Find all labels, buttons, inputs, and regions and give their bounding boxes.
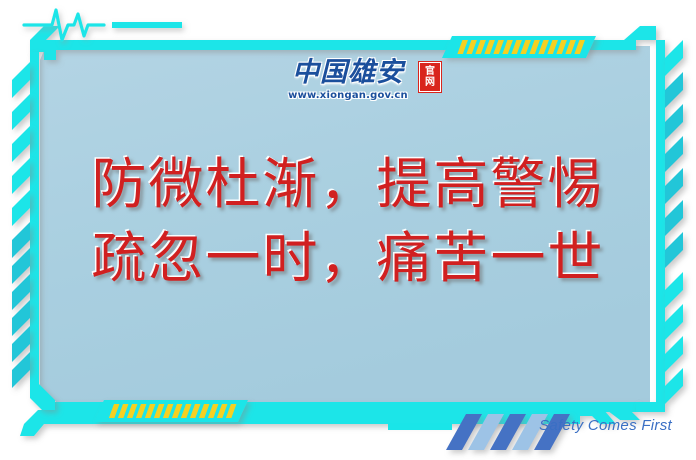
logo-url-text: www.xiongan.gov.cn	[288, 90, 408, 101]
xiongan-logo: 中国雄安 www.xiongan.gov.cn 官 网	[273, 58, 423, 114]
left-diagonal-stripes	[12, 62, 30, 388]
slogan-block: 防微杜渐，提高警惕 疏忽一时，痛苦一世	[91, 154, 604, 288]
safety-poster: 中国雄安 www.xiongan.gov.cn 官 网 防微杜渐，提高警惕 疏忽…	[0, 0, 696, 460]
poster-content: 中国雄安 www.xiongan.gov.cn 官 网 防微杜渐，提高警惕 疏忽…	[40, 44, 656, 406]
official-seal-icon: 官 网	[419, 62, 441, 92]
logo-wordmark-text: 中国雄安	[292, 58, 404, 88]
right-diagonal-stripes	[665, 40, 683, 404]
tagline-text: Safety Comes First	[539, 417, 672, 434]
logo-wordmark-group: 中国雄安 www.xiongan.gov.cn	[288, 58, 408, 101]
seal-char-bottom: 网	[425, 77, 435, 88]
slogan-line-2: 疏忽一时，痛苦一世	[91, 228, 604, 288]
slogan-line-1: 防微杜渐，提高警惕	[91, 154, 604, 214]
seal-char-top: 官	[425, 66, 435, 77]
